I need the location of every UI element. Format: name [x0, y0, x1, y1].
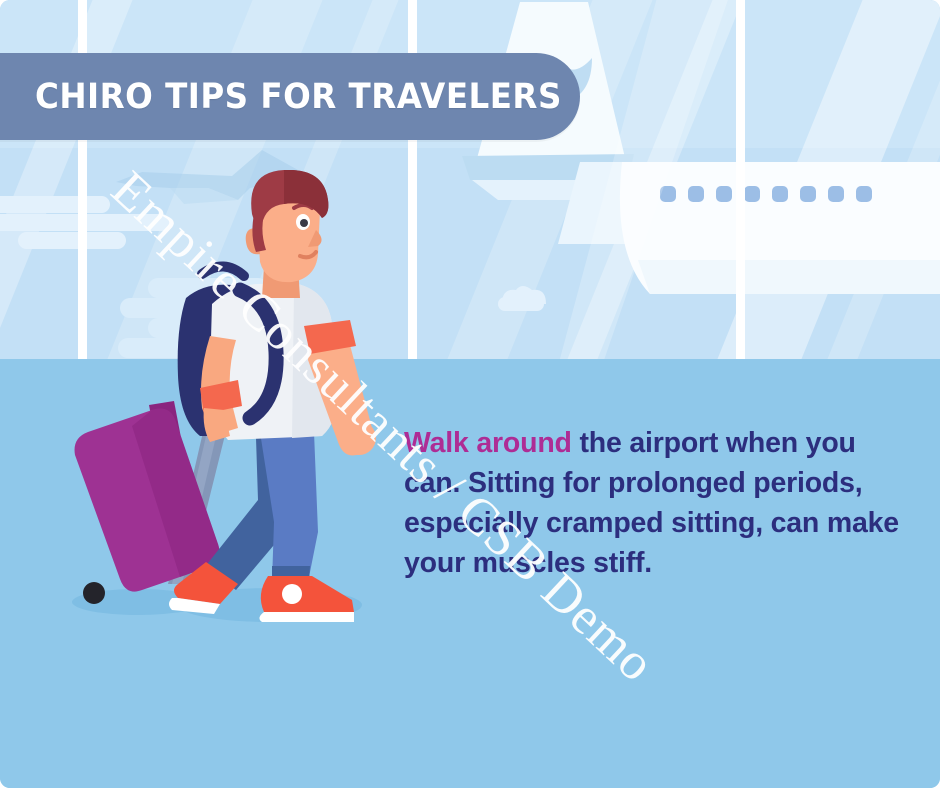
window-mullion: [736, 0, 745, 359]
infographic-canvas: CHIRO TIPS FOR TRAVELERS: [0, 0, 940, 788]
traveler-character-illustration: [60, 170, 390, 640]
front-shoe: [259, 576, 354, 622]
body-copy: Walk around the airport when you can. Si…: [404, 423, 904, 583]
suitcase-wheel: [83, 582, 105, 604]
page-title: CHIRO TIPS FOR TRAVELERS: [35, 77, 562, 117]
title-banner: CHIRO TIPS FOR TRAVELERS: [0, 53, 580, 140]
head: [246, 170, 329, 298]
body-copy-highlight: Walk around: [404, 427, 572, 459]
